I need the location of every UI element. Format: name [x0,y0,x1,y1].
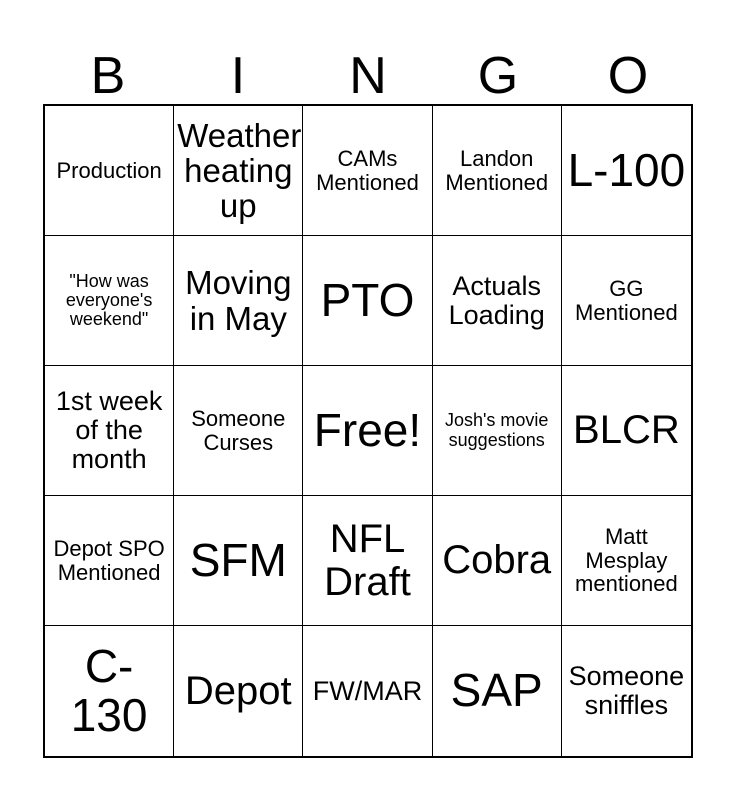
bingo-cell-i5[interactable]: Depot [174,626,303,756]
header-letter-text: B [91,50,126,104]
bingo-cell-o3[interactable]: BLCR [562,366,691,496]
bingo-cell-label: PTO [306,276,428,325]
bingo-cell-i1[interactable]: Weather heating up [174,106,303,236]
bingo-cell-label: 1st week of the month [48,387,170,474]
bingo-cell-label: SAP [436,666,558,715]
bingo-cell-label: GG Mentioned [565,277,688,324]
bingo-card: B I N G O Production Weather heating up … [0,0,736,800]
bingo-cell-b1[interactable]: Production [45,106,174,236]
bingo-cell-g4[interactable]: Cobra [433,496,562,626]
bingo-cell-n1[interactable]: CAMs Mentioned [303,106,432,236]
bingo-cell-label: Landon Mentioned [436,147,558,194]
bingo-cell-n5[interactable]: FW/MAR [303,626,432,756]
bingo-cell-o1[interactable]: L-100 [562,106,691,236]
bingo-header-letter-o: O [563,26,693,104]
bingo-cell-label: Weather heating up [177,118,299,224]
bingo-cell-g1[interactable]: Landon Mentioned [433,106,562,236]
bingo-cell-label: Moving in May [177,265,299,336]
bingo-cell-label: "How was everyone's weekend" [48,272,170,330]
bingo-cell-n4[interactable]: NFL Draft [303,496,432,626]
header-letter-text: O [608,50,648,104]
bingo-cell-label: CAMs Mentioned [306,147,428,194]
bingo-cell-free-space[interactable]: Free! [303,366,432,496]
bingo-cell-label: BLCR [565,409,688,452]
bingo-cell-label: Matt Mesplay mentioned [565,525,688,596]
bingo-cell-label: Free! [306,406,428,455]
bingo-cell-label: FW/MAR [306,677,428,706]
bingo-cell-i4[interactable]: SFM [174,496,303,626]
bingo-cell-label: Someone Curses [177,407,299,454]
bingo-cell-g2[interactable]: Actuals Loading [433,236,562,366]
bingo-header-letter-b: B [43,26,173,104]
header-letter-text: G [478,50,518,104]
bingo-cell-o4[interactable]: Matt Mesplay mentioned [562,496,691,626]
bingo-grid: Production Weather heating up CAMs Menti… [43,104,693,758]
bingo-cell-label: C-130 [48,642,170,740]
bingo-cell-label: Depot [177,670,299,713]
bingo-cell-o2[interactable]: GG Mentioned [562,236,691,366]
bingo-cell-label: Cobra [436,539,558,582]
bingo-cell-label: Someone sniffles [565,662,688,720]
bingo-header-letter-g: G [433,26,563,104]
bingo-header-letter-i: I [173,26,303,104]
header-letter-text: N [349,50,387,104]
bingo-cell-label: Josh's movie suggestions [436,411,558,450]
bingo-header-letter-n: N [303,26,433,104]
bingo-cell-b3[interactable]: 1st week of the month [45,366,174,496]
bingo-cell-label: Actuals Loading [436,272,558,330]
bingo-cell-b5[interactable]: C-130 [45,626,174,756]
bingo-cell-label: Depot SPO Mentioned [48,537,170,584]
bingo-cell-b2[interactable]: "How was everyone's weekend" [45,236,174,366]
bingo-cell-g5[interactable]: SAP [433,626,562,756]
bingo-cell-i2[interactable]: Moving in May [174,236,303,366]
bingo-cell-i3[interactable]: Someone Curses [174,366,303,496]
bingo-cell-label: L-100 [565,146,688,195]
bingo-header-row: B I N G O [43,26,693,104]
header-letter-text: I [231,50,245,104]
bingo-cell-label: SFM [177,536,299,585]
bingo-cell-label: Production [48,159,170,183]
bingo-cell-g3[interactable]: Josh's movie suggestions [433,366,562,496]
bingo-cell-o5[interactable]: Someone sniffles [562,626,691,756]
bingo-cell-label: NFL Draft [306,518,428,604]
bingo-cell-b4[interactable]: Depot SPO Mentioned [45,496,174,626]
bingo-cell-n2[interactable]: PTO [303,236,432,366]
